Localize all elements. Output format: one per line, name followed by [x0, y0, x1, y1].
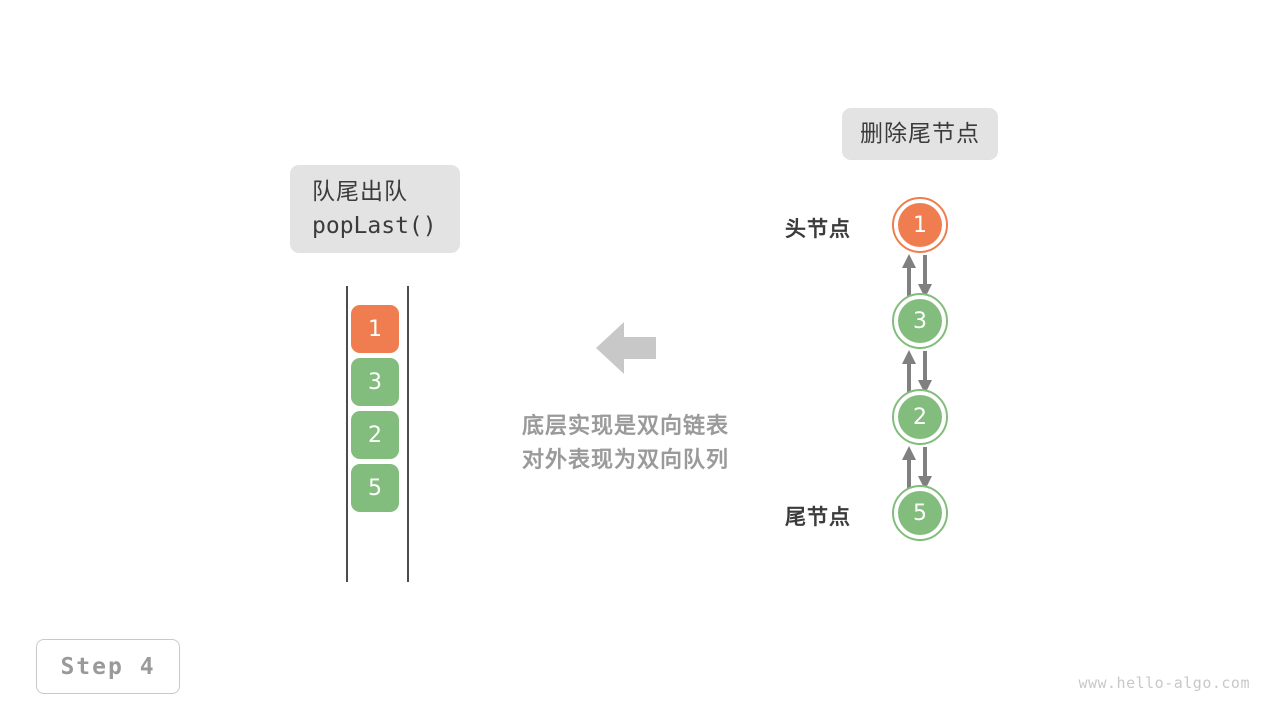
- explanation-caption-line1: 底层实现是双向链表: [463, 410, 788, 444]
- deque-array-view: 1 3 2 5: [340, 280, 420, 590]
- stack-cell: 1: [351, 305, 399, 353]
- stack-rail-right: [407, 286, 409, 582]
- stack-cell: 5: [351, 464, 399, 512]
- transition-arrow-left-icon: [596, 320, 656, 376]
- linked-list-node-value: 1: [913, 213, 927, 238]
- delete-tail-node-tag-label: 删除尾节点: [860, 117, 980, 151]
- explanation-caption: 底层实现是双向链表 对外表现为双向队列: [463, 410, 788, 478]
- poplast-tag-line2: popLast(): [312, 209, 437, 243]
- stack-rail-left: [346, 286, 348, 582]
- linked-list-node: 3: [892, 293, 948, 349]
- stack-cell: 3: [351, 358, 399, 406]
- head-node-label: 头节点: [785, 213, 851, 243]
- stack-cell-value: 3: [368, 370, 382, 395]
- linked-list-node: 2: [892, 389, 948, 445]
- linked-list-node: 1: [892, 197, 948, 253]
- site-watermark: www.hello-algo.com: [1078, 674, 1250, 692]
- explanation-caption-line2: 对外表现为双向队列: [463, 444, 788, 478]
- step-badge: Step 4: [36, 639, 180, 694]
- poplast-tag-line1: 队尾出队: [312, 175, 408, 209]
- tail-node-label: 尾节点: [785, 501, 851, 531]
- step-badge-label: Step 4: [60, 654, 155, 680]
- linked-list-node-value: 5: [913, 501, 927, 526]
- stack-cell-value: 1: [368, 317, 382, 342]
- stack-cell-value: 5: [368, 476, 382, 501]
- linked-list-node-value: 2: [913, 405, 927, 430]
- poplast-operation-tag: 队尾出队 popLast(): [290, 165, 460, 253]
- linked-list-node-value: 3: [913, 309, 927, 334]
- stack-cell-value: 2: [368, 423, 382, 448]
- linked-list-node: 5: [892, 485, 948, 541]
- delete-tail-node-tag: 删除尾节点: [842, 108, 998, 160]
- stack-cell: 2: [351, 411, 399, 459]
- transition-arrow-left: [596, 320, 656, 376]
- doubly-linked-list: 头节点 尾节点 1 3 2: [760, 180, 1000, 560]
